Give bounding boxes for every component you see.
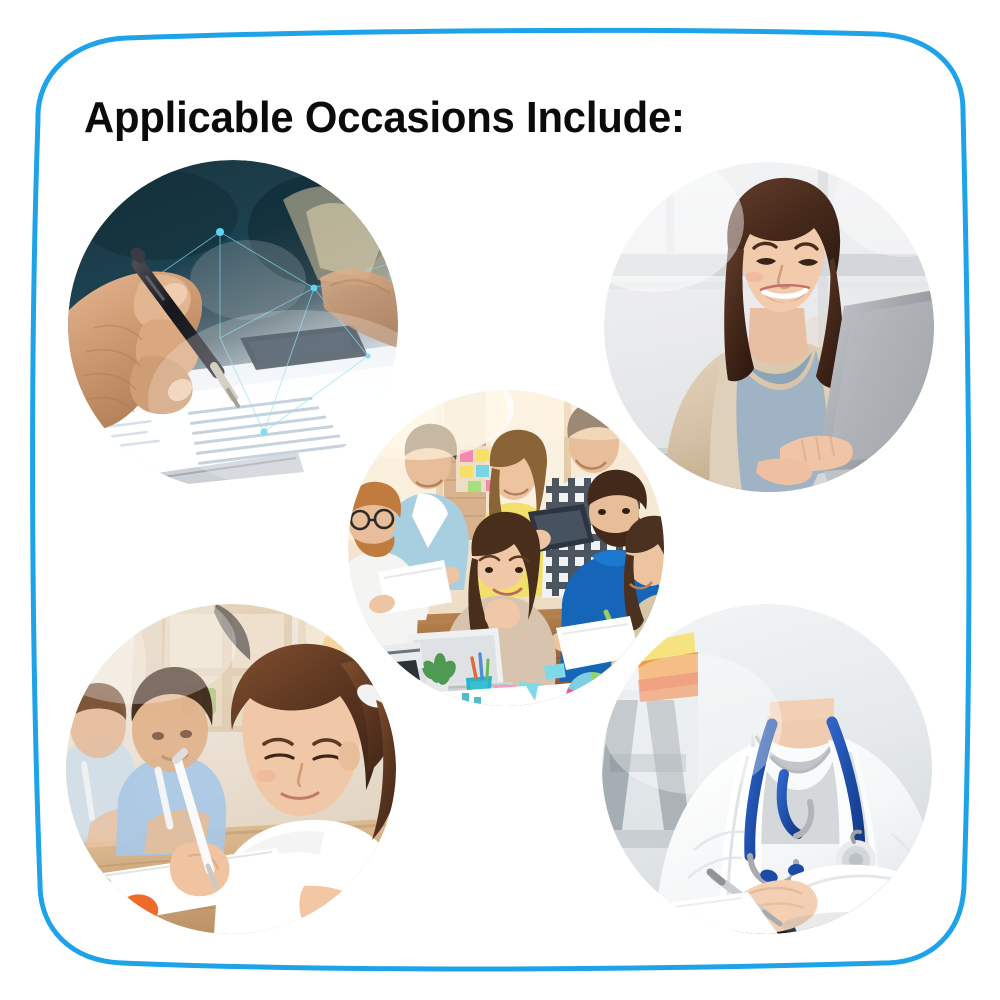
promo-graphic-page: Applicable Occasions Include: xyxy=(0,0,1000,1000)
office-photo xyxy=(348,390,664,706)
page-title: Applicable Occasions Include: xyxy=(84,93,685,143)
occasion-tile-school[interactable]: School xyxy=(66,604,396,934)
school-photo xyxy=(66,604,396,934)
occasion-tile-office[interactable]: Office xyxy=(348,390,664,706)
